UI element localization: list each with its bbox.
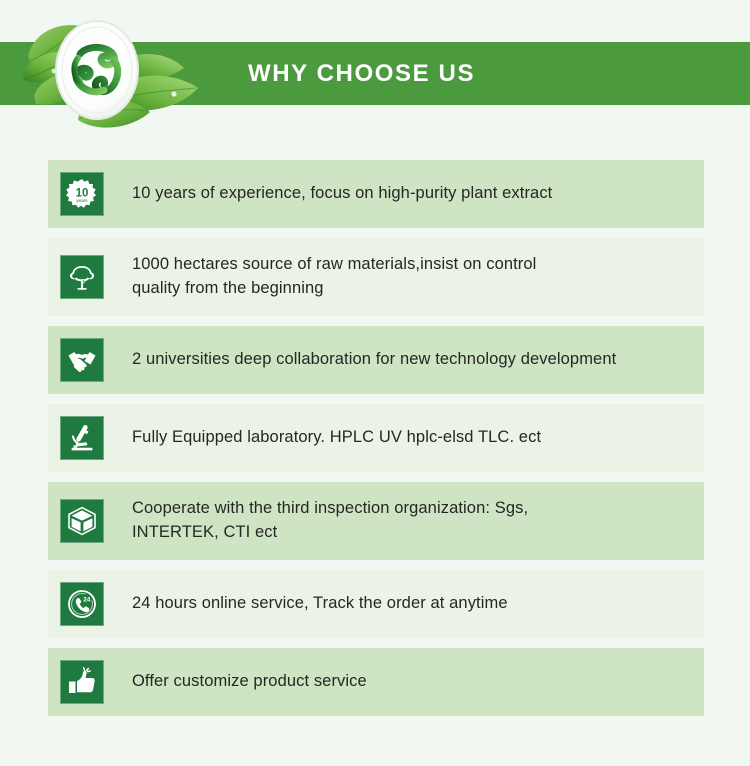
list-item: 1000 hectares source of raw materials,in… xyxy=(48,238,704,316)
list-item: Offer customize product service xyxy=(48,648,704,716)
clock-phone-24h-icon: 24 xyxy=(60,582,104,626)
benefit-list: 10 years 10 years of experience, focus o… xyxy=(48,160,704,726)
leaf-swirl-logo xyxy=(18,14,210,132)
oval-emblem-icon xyxy=(56,21,138,119)
svg-text:years: years xyxy=(76,198,88,203)
list-item-label: Fully Equipped laboratory. HPLC UV hplc-… xyxy=(132,426,541,450)
handshake-icon xyxy=(60,338,104,382)
list-item-label: 1000 hectares source of raw materials,in… xyxy=(132,253,536,301)
page-title: WHY CHOOSE US xyxy=(248,42,475,105)
list-item-label: 24 hours online service, Track the order… xyxy=(132,592,508,616)
list-item: 24 24 hours online service, Track the or… xyxy=(48,570,704,638)
page-root: WHY CHOOSE US 10 years 10 years of exper… xyxy=(0,0,750,766)
list-item: 10 years 10 years of experience, focus o… xyxy=(48,160,704,228)
list-item: 2 universities deep collaboration for ne… xyxy=(48,326,704,394)
tree-icon xyxy=(60,255,104,299)
list-item: Cooperate with the third inspection orga… xyxy=(48,482,704,560)
list-item: Fully Equipped laboratory. HPLC UV hplc-… xyxy=(48,404,704,472)
microscope-icon xyxy=(60,416,104,460)
thumbs-up-icon xyxy=(60,660,104,704)
list-item-label: Cooperate with the third inspection orga… xyxy=(132,497,528,545)
list-item-label: Offer customize product service xyxy=(132,670,367,694)
list-item-label: 2 universities deep collaboration for ne… xyxy=(132,348,616,372)
badge-10-years-icon: 10 years xyxy=(60,172,104,216)
cube-box-icon xyxy=(60,499,104,543)
list-item-label: 10 years of experience, focus on high-pu… xyxy=(132,182,552,206)
svg-text:24: 24 xyxy=(83,597,91,604)
